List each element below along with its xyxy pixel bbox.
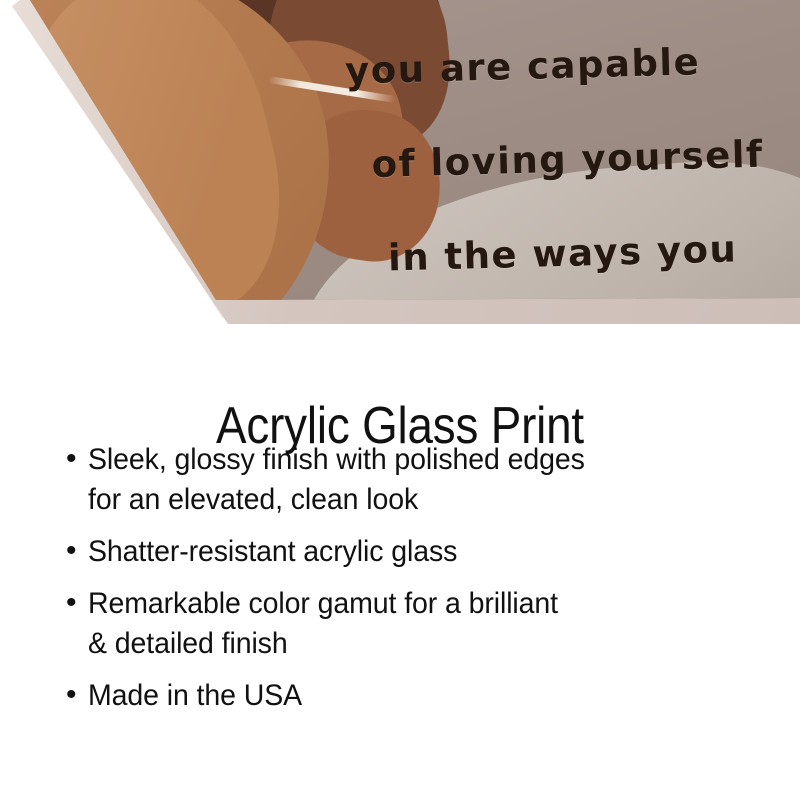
- list-item: • Sleek, glossy finish with polished edg…: [66, 440, 766, 520]
- artwork-handwritten-quote: you are capable of loving yourself in th…: [333, 0, 800, 340]
- product-detail-page: you are capable of loving yourself in th…: [0, 0, 800, 800]
- bullet-icon: •: [66, 584, 88, 622]
- feature-text: Remarkable color gamut for a brilliant &…: [88, 584, 558, 664]
- feature-list: • Sleek, glossy finish with polished edg…: [66, 440, 766, 728]
- quote-line-1: you are capable: [345, 34, 800, 94]
- list-item: • Remarkable color gamut for a brilliant…: [66, 584, 766, 664]
- product-image[interactable]: you are capable of loving yourself in th…: [0, 0, 800, 340]
- bullet-icon: •: [66, 440, 88, 478]
- artwork: you are capable of loving yourself in th…: [0, 0, 800, 340]
- list-item: • Made in the USA: [66, 676, 766, 716]
- feature-text: Sleek, glossy finish with polished edges…: [88, 440, 585, 520]
- acrylic-print-face: you are capable of loving yourself in th…: [0, 0, 800, 340]
- feature-text: Shatter-resistant acrylic glass: [88, 532, 457, 572]
- list-item: • Shatter-resistant acrylic glass: [66, 532, 766, 572]
- bullet-icon: •: [66, 532, 88, 570]
- quote-line-2: of loving yourself: [371, 128, 800, 188]
- bullet-icon: •: [66, 676, 88, 714]
- quote-line-3: in the ways you: [387, 222, 800, 281]
- feature-text: Made in the USA: [88, 676, 302, 716]
